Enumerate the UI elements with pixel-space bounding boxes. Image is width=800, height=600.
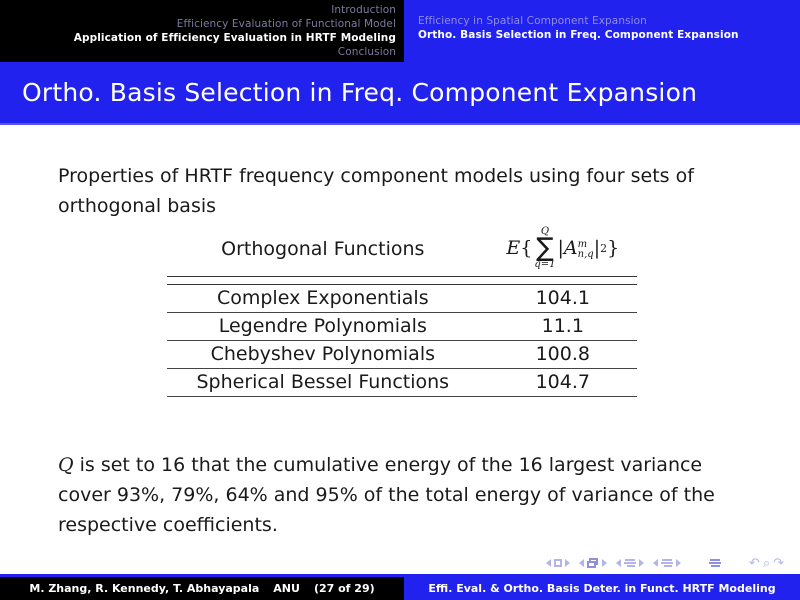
note-paragraph: Q is set to 16 that the cumulative energ… (58, 450, 758, 540)
nav-item-application-hrtf[interactable]: Application of Efficiency Evaluation in … (0, 31, 396, 45)
next-section-icon[interactable] (676, 559, 681, 567)
sum-lower-limit: q=1 (534, 260, 555, 270)
beamer-navigation-symbols: ↶ ⌕ ↷ (0, 553, 800, 573)
row-value-chebyshev-polynomials: 100.8 (489, 341, 637, 369)
summation-block: Q ∑ q=1 (534, 227, 555, 270)
table-row: Chebyshev Polynomials 100.8 (167, 341, 637, 369)
table-header-row: Orthogonal Functions E{ Q ∑ q=1 |Amn,q|2… (167, 225, 637, 277)
row-name-chebyshev-polynomials: Chebyshev Polynomials (167, 341, 489, 369)
subsection-nav-group[interactable] (616, 558, 644, 568)
header-navigation-bar: Introduction Efficiency Evaluation of Fu… (0, 0, 800, 62)
footer-authors: M. Zhang, R. Kennedy, T. Abhayapala (29, 582, 259, 595)
properties-table: Orthogonal Functions E{ Q ∑ q=1 |Amn,q|2… (167, 225, 637, 397)
intro-paragraph: Properties of HRTF frequency component m… (58, 161, 748, 221)
toprule-cell (167, 277, 637, 285)
note-paragraph-text: is set to 16 that the cumulative energy … (58, 454, 715, 536)
note-math-variable-Q: Q (58, 454, 74, 476)
nav-item-spatial-component-expansion[interactable]: Efficiency in Spatial Component Expansio… (418, 14, 800, 28)
column-header-energy-formula: E{ Q ∑ q=1 |Amn,q|2} (489, 225, 637, 277)
sigma-icon: ∑ (536, 237, 554, 260)
section-nav-left: Introduction Efficiency Evaluation of Fu… (0, 0, 404, 62)
next-subsection-icon[interactable] (639, 559, 644, 567)
formula-indices: mn,q (578, 240, 594, 260)
row-value-complex-exponentials: 104.1 (489, 285, 637, 313)
row-name-spherical-bessel-functions: Spherical Bessel Functions (167, 369, 489, 397)
energy-expectation-formula: E{ Q ∑ q=1 |Amn,q|2} (506, 227, 619, 270)
formula-power-2: 2 (600, 243, 607, 254)
table-toprule (167, 277, 637, 285)
footer-institution: ANU (273, 582, 300, 595)
search-nav-icon[interactable]: ⌕ (763, 557, 770, 570)
column-header-orthogonal-functions: Orthogonal Functions (167, 225, 489, 277)
page-title: Ortho. Basis Selection in Freq. Componen… (0, 78, 697, 107)
formula-operator-E: E (506, 239, 520, 258)
footer-left-block: M. Zhang, R. Kennedy, T. Abhayapala ANU … (0, 577, 404, 600)
document-nav-icon[interactable] (709, 558, 721, 569)
formula-close-brace: } (607, 239, 619, 258)
next-slide-icon[interactable] (565, 559, 570, 567)
previous-frame-icon[interactable] (579, 559, 584, 567)
slide-content: Properties of HRTF frequency component m… (0, 125, 800, 553)
row-value-legendre-polynomials: 11.1 (489, 313, 637, 341)
subsection-nav-right: Efficiency in Spatial Component Expansio… (404, 0, 800, 62)
footer-page-counter: (27 of 29) (314, 582, 375, 595)
table-row: Complex Exponentials 104.1 (167, 285, 637, 313)
previous-section-icon[interactable] (653, 559, 658, 567)
previous-slide-icon[interactable] (546, 559, 551, 567)
nav-item-introduction[interactable]: Introduction (0, 3, 396, 17)
formula-open-brace: { (520, 239, 532, 258)
table-row: Legendre Polynomials 11.1 (167, 313, 637, 341)
frame-nav-group[interactable] (579, 558, 607, 568)
footer-short-title: Effi. Eval. & Ortho. Basis Deter. in Fun… (428, 582, 775, 595)
footer-right-block: Effi. Eval. & Ortho. Basis Deter. in Fun… (404, 577, 800, 600)
slide-nav-group[interactable] (546, 559, 570, 567)
formula-base-A: A (564, 239, 578, 258)
formula-subscript-nq: n,q (578, 250, 594, 260)
nav-item-conclusion[interactable]: Conclusion (0, 45, 396, 59)
row-name-complex-exponentials: Complex Exponentials (167, 285, 489, 313)
nav-item-efficiency-evaluation[interactable]: Efficiency Evaluation of Functional Mode… (0, 17, 396, 31)
nav-item-ortho-basis-selection[interactable]: Ortho. Basis Selection in Freq. Componen… (418, 28, 800, 42)
properties-table-wrapper: Orthogonal Functions E{ Q ∑ q=1 |Amn,q|2… (167, 225, 637, 397)
next-frame-icon[interactable] (602, 559, 607, 567)
history-nav-group[interactable]: ↶ ⌕ ↷ (749, 557, 784, 570)
row-value-spherical-bessel-functions: 104.7 (489, 369, 637, 397)
section-nav-group[interactable] (653, 558, 681, 568)
previous-subsection-icon[interactable] (616, 559, 621, 567)
frame-nav-icon[interactable] (587, 558, 599, 568)
back-nav-icon[interactable]: ↶ (749, 557, 760, 570)
forward-nav-icon[interactable]: ↷ (773, 557, 784, 570)
slide-nav-icon[interactable] (554, 559, 562, 567)
section-nav-icon[interactable] (661, 558, 673, 568)
slide-title-bar: Ortho. Basis Selection in Freq. Componen… (0, 62, 800, 123)
row-name-legendre-polynomials: Legendre Polynomials (167, 313, 489, 341)
table-row: Spherical Bessel Functions 104.7 (167, 369, 637, 397)
slide-footer: M. Zhang, R. Kennedy, T. Abhayapala ANU … (0, 577, 800, 600)
subsection-nav-icon[interactable] (624, 558, 636, 568)
table-body: Complex Exponentials 104.1 Legendre Poly… (167, 277, 637, 397)
table-head: Orthogonal Functions E{ Q ∑ q=1 |Amn,q|2… (167, 225, 637, 277)
